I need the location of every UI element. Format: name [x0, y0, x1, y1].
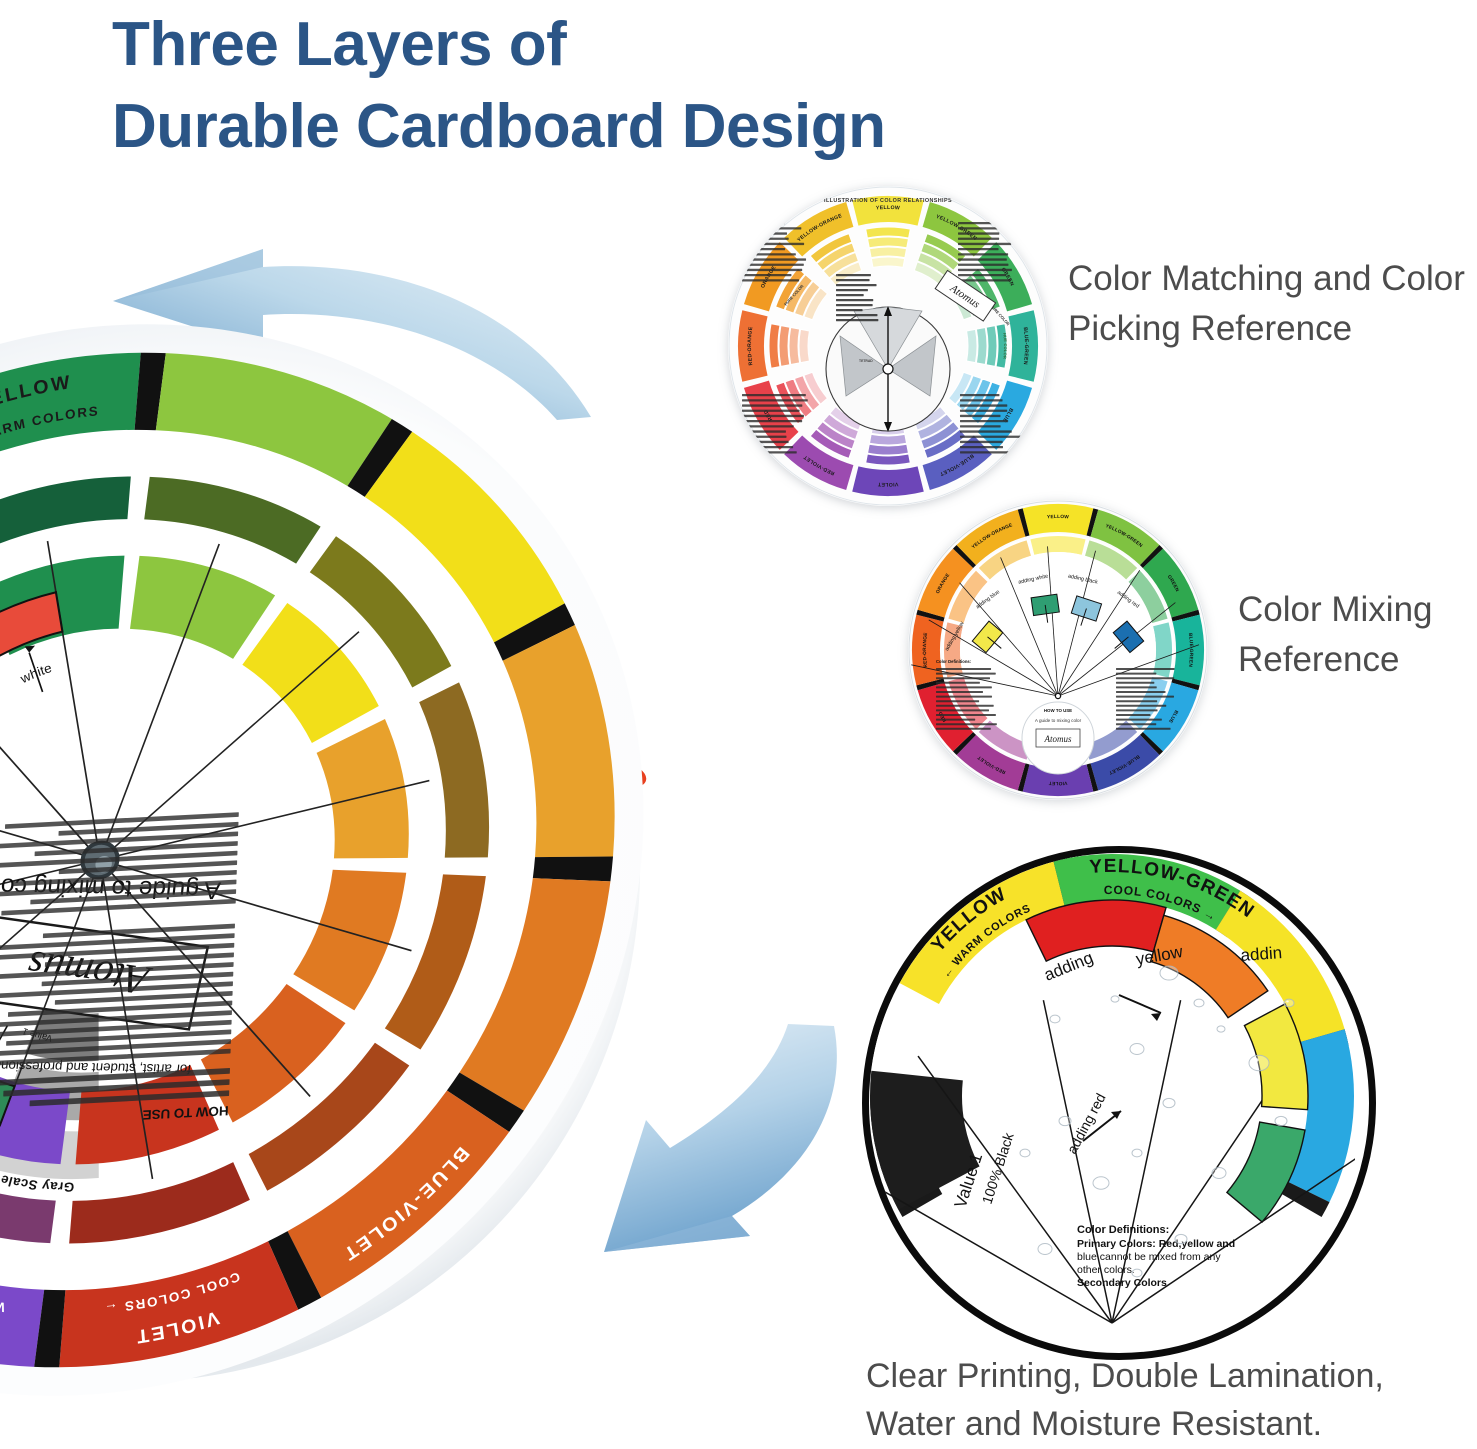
color-mixing-wheel-svg[interactable]: YELLOWYELLOW-GREENGREENBLUE-GREENBLUEBLU…: [908, 500, 1208, 800]
main-color-wheel[interactable]: Gray ScaleValue 1Value 2Value 3 adding r…: [0, 313, 699, 1407]
color-matching-wheel-svg[interactable]: YELLOWYELLOW-GREENGREENBLUE-GREENBLUEBLU…: [728, 186, 1048, 506]
page-title: Three Layers of Durable Cardboard Design: [112, 4, 1162, 168]
color-matching-wheel[interactable]: YELLOWYELLOW-GREENGREENBLUE-GREENBLUEBLU…: [728, 186, 1048, 506]
caption-color-mixing: Color Mixing Reference: [1238, 585, 1477, 684]
svg-text:Color Definitions:: Color Definitions:: [1077, 1224, 1169, 1236]
svg-text:Primary Colors: Red,yellow and: Primary Colors: Red,yellow and: [1077, 1238, 1235, 1250]
svg-text:HOW TO USE: HOW TO USE: [1044, 708, 1072, 713]
mixing-wheel-hub[interactable]: [1055, 693, 1060, 698]
svg-text:Secondary Colors: Secondary Colors: [1077, 1277, 1167, 1289]
caption-clear-printing: Clear Printing, Double Lamination, Water…: [866, 1352, 1477, 1449]
svg-text:YELLOW: YELLOW: [876, 205, 901, 212]
svg-text:addin: addin: [1240, 943, 1283, 965]
svg-text:blue cannot be mixed from any: blue cannot be mixed from any: [1077, 1251, 1221, 1263]
page-title-line2: Durable Cardboard Design: [112, 86, 1162, 168]
main-wheel-svg[interactable]: Gray ScaleValue 1Value 2Value 3 adding r…: [0, 313, 699, 1407]
svg-text:other colors.: other colors.: [1077, 1264, 1135, 1276]
svg-text:VIOLET: VIOLET: [877, 481, 899, 487]
caption-color-matching: Color Matching and Color Picking Referen…: [1068, 254, 1477, 353]
color-mixing-wheel[interactable]: YELLOWYELLOW-GREENGREENBLUE-GREENBLUEBLU…: [908, 500, 1208, 800]
matching-wheel-title: ILLUSTRATION OF COLOR RELATIONSHIPS: [824, 198, 952, 204]
page-title-line1: Three Layers of: [112, 10, 566, 79]
svg-text:Color Definitions:: Color Definitions:: [936, 659, 971, 664]
svg-text:TETRAD: TETRAD: [859, 359, 873, 363]
print-detail-wheel-svg[interactable]: YELLOW-GREENCOOL COLORS →YELLOW← WARM CO…: [869, 853, 1355, 1339]
svg-text:Atomus: Atomus: [1044, 734, 1072, 744]
svg-text:A guide to mixing color: A guide to mixing color: [1035, 718, 1082, 723]
svg-text:HUE COLOR: HUE COLOR: [1002, 333, 1008, 360]
infographic-canvas: Three Layers of Durable Cardboard Design…: [0, 0, 1477, 1441]
print-detail-wheel[interactable]: YELLOW-GREENCOOL COLORS →YELLOW← WARM CO…: [862, 846, 1376, 1360]
